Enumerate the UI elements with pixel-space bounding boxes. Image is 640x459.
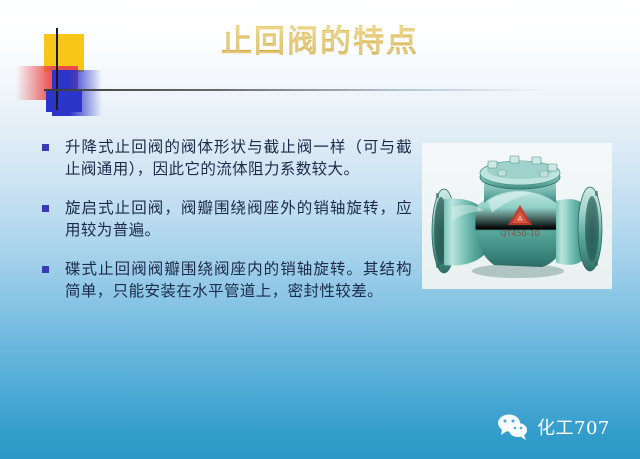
list-item-text: 升降式止回阀的阀体形状与截止阀一样（可与截止阀通用），因此它的流体阻力系数较大。 bbox=[65, 136, 412, 180]
square-bullet-icon bbox=[42, 144, 49, 151]
decoration-horizontal-rule bbox=[44, 89, 544, 91]
slide-title: 止回阀的特点 bbox=[0, 16, 640, 61]
list-item: 碟式止回阀阀瓣围绕阀座内的销轴旋转。其结构简单，只能安装在水平管道上，密封性较差… bbox=[40, 258, 412, 302]
list-item-text: 旋启式止回阀，阀瓣围绕阀座外的销轴旋转，应用较为普遍。 bbox=[65, 197, 412, 241]
square-bullet-icon bbox=[42, 266, 49, 273]
wechat-account-label: 化工707 bbox=[537, 414, 610, 440]
presentation-slide: 止回阀的特点 升降式止回阀的阀体形状与截止阀一样（可与截止阀通用），因此它的流体… bbox=[0, 0, 640, 459]
list-item: 旋启式止回阀，阀瓣围绕阀座外的销轴旋转，应用较为普遍。 bbox=[40, 197, 412, 241]
list-item-text: 碟式止回阀阀瓣围绕阀座内的销轴旋转。其结构简单，只能安装在水平管道上，密封性较差… bbox=[65, 258, 412, 302]
bullet-list: 升降式止回阀的阀体形状与截止阀一样（可与截止阀通用），因此它的流体阻力系数较大。… bbox=[40, 136, 412, 319]
wechat-watermark: 化工707 bbox=[496, 410, 610, 444]
valve-marking-text: QT450-10 bbox=[500, 229, 540, 238]
square-bullet-icon bbox=[42, 205, 49, 212]
swing-check-valve-photo: A QT450-10 bbox=[422, 143, 612, 289]
svg-text:A: A bbox=[518, 215, 523, 223]
list-item: 升降式止回阀的阀体形状与截止阀一样（可与截止阀通用），因此它的流体阻力系数较大。 bbox=[40, 136, 412, 180]
wechat-icon bbox=[496, 413, 530, 441]
decoration-blue-accent bbox=[46, 90, 82, 112]
